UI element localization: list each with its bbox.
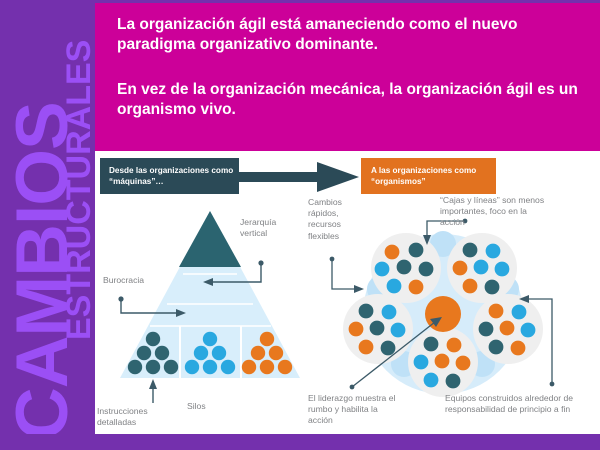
from-machines-box: Desde las organizaciones como “máquinas”… bbox=[100, 158, 239, 194]
label-hierarchy: Jerarquía vertical bbox=[240, 217, 302, 239]
label-fast-change: Cambios rápidos, recursos flexibles bbox=[308, 197, 356, 242]
content-plate: Desde las organizaciones como “máquinas”… bbox=[95, 151, 600, 434]
banner-paragraph-1: La organización ágil está amaneciendo co… bbox=[117, 15, 582, 56]
cluster-4 bbox=[408, 327, 478, 397]
label-boxes-lines: “Cajas y líneas” son menos importantes, … bbox=[440, 195, 550, 229]
left-title-rail: CAMBIOS ESTRUCTURALES bbox=[0, 0, 95, 450]
label-teams: Equipos construidos alrededor de respons… bbox=[445, 393, 595, 415]
label-silos: Silos bbox=[187, 401, 237, 412]
cluster-1 bbox=[371, 233, 441, 303]
cluster-3 bbox=[343, 294, 413, 364]
pyramid-machine-diagram: Jerarquía vertical Burocracia Silos Inst… bbox=[95, 203, 330, 434]
circle-organism-diagram: Cambios rápidos, recursos flexibles “Caj… bbox=[310, 199, 600, 434]
rail-title-small: ESTRUCTURALES bbox=[62, 40, 95, 340]
label-leadership: El liderazgo muestra el rumbo y habilita… bbox=[308, 393, 400, 427]
banner-paragraph-2: En vez de la organización mecánica, la o… bbox=[117, 80, 582, 121]
right-arrow-icon bbox=[235, 161, 365, 193]
label-bureaucracy: Burocracia bbox=[103, 275, 183, 286]
leadership-core bbox=[425, 296, 461, 332]
bottom-purple-bar bbox=[0, 434, 600, 450]
to-organisms-box: A las organizaciones como “organismos” bbox=[361, 158, 496, 194]
fast-change-connector bbox=[332, 259, 356, 289]
cluster-2 bbox=[447, 233, 517, 303]
slide-root: CAMBIOS ESTRUCTURALES La organización ág… bbox=[0, 0, 600, 450]
cluster-5 bbox=[473, 294, 543, 364]
magenta-banner: La organización ágil está amaneciendo co… bbox=[95, 3, 600, 151]
label-instructions: Instrucciones detalladas bbox=[97, 406, 169, 428]
